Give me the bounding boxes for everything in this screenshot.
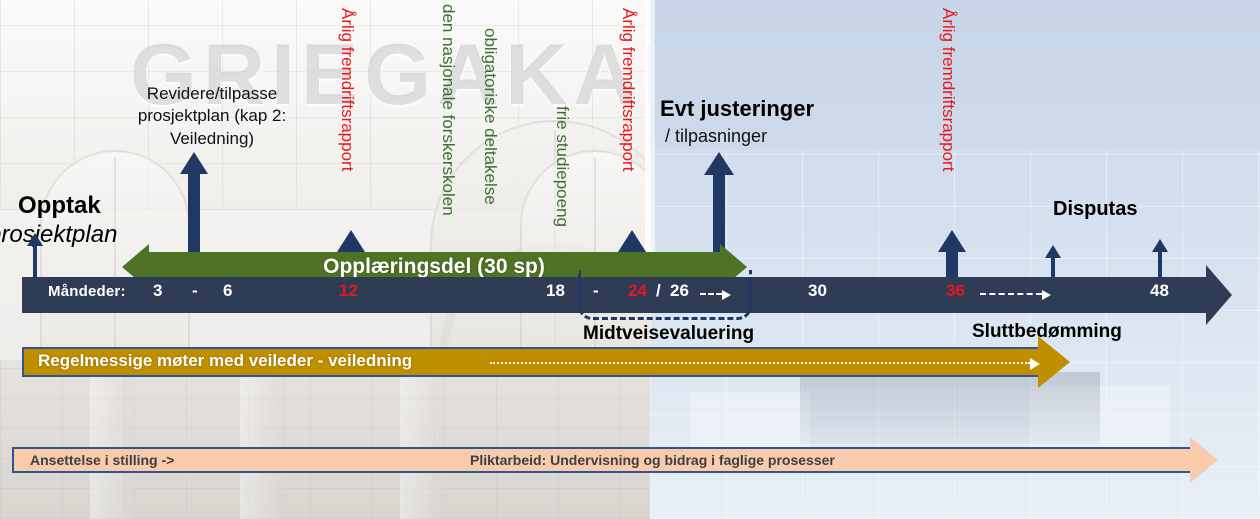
label-prosjektplan: prosjektplan <box>0 221 117 249</box>
midtveisevaluering-bracket <box>578 270 752 320</box>
background-block <box>690 392 810 448</box>
tick-30: 30 <box>808 281 827 301</box>
tick-6: 6 <box>223 281 232 301</box>
background-pillar <box>90 360 136 519</box>
vlabel-arlig-fremdriftsrapport-12: Årlig fremdriftsrapport <box>337 8 357 171</box>
background-pillar <box>240 360 286 519</box>
tick-12: 12 <box>339 281 358 301</box>
label-evt-tilpasninger: / tilpasninger <box>665 126 767 147</box>
tick-18: 18 <box>546 281 565 301</box>
timeline-dash-36-48 <box>980 293 1042 295</box>
gold-arrow-dashed-continuation <box>490 362 1030 364</box>
vlabel-arlig-fremdriftsrapport-36: Årlig fremdriftsrapport <box>938 8 958 171</box>
timeline-diagram: GRIEGAKADEMIET Årlig fremdriftsrapport d… <box>0 0 1260 519</box>
tick-dash-1: - <box>192 281 198 301</box>
vlabel-obligatoriske-deltakelse: obligatoriske deltakelse <box>480 28 500 205</box>
label-revidere-prosjektplan: Revidere/tilpasse prosjektplan (kap 2: V… <box>122 83 302 150</box>
arrow-up-opptak <box>27 233 43 283</box>
timeline-month-label: Måndeder: <box>48 283 126 300</box>
arrow-up-rapport-36 <box>938 230 966 283</box>
gold-arrow-head <box>1038 336 1070 388</box>
timeline-arrow-head <box>1206 265 1232 325</box>
tick-48: 48 <box>1150 281 1169 301</box>
label-midtveisevaluering: Midtveisevaluering <box>583 323 754 345</box>
peach-label-ansettelse: Ansettelse i stilling -> <box>30 452 174 468</box>
peach-label-pliktarbeid: Pliktarbeid: Undervisning og bidrag i fa… <box>470 452 835 468</box>
vlabel-den-nasjonale-forskerskolen: den nasjonale forskerskolen <box>438 4 458 216</box>
peach-arrow-head <box>1190 437 1218 483</box>
background-pillar <box>400 360 446 519</box>
tick-3: 3 <box>153 281 162 301</box>
vlabel-frie-studiepoeng: frie studiepoeng <box>552 106 572 227</box>
label-opptak: Opptak <box>18 192 101 220</box>
background-seam <box>645 0 655 260</box>
tick-36: 36 <box>946 281 965 301</box>
label-evt-justeringer: Evt justeringer <box>660 96 814 122</box>
label-disputas: Disputas <box>1053 198 1137 221</box>
vlabel-arlig-fremdriftsrapport-24: Årlig fremdriftsrapport <box>618 8 638 171</box>
gold-arrow-label: Regelmessige møter med veileder - veiled… <box>38 351 412 371</box>
